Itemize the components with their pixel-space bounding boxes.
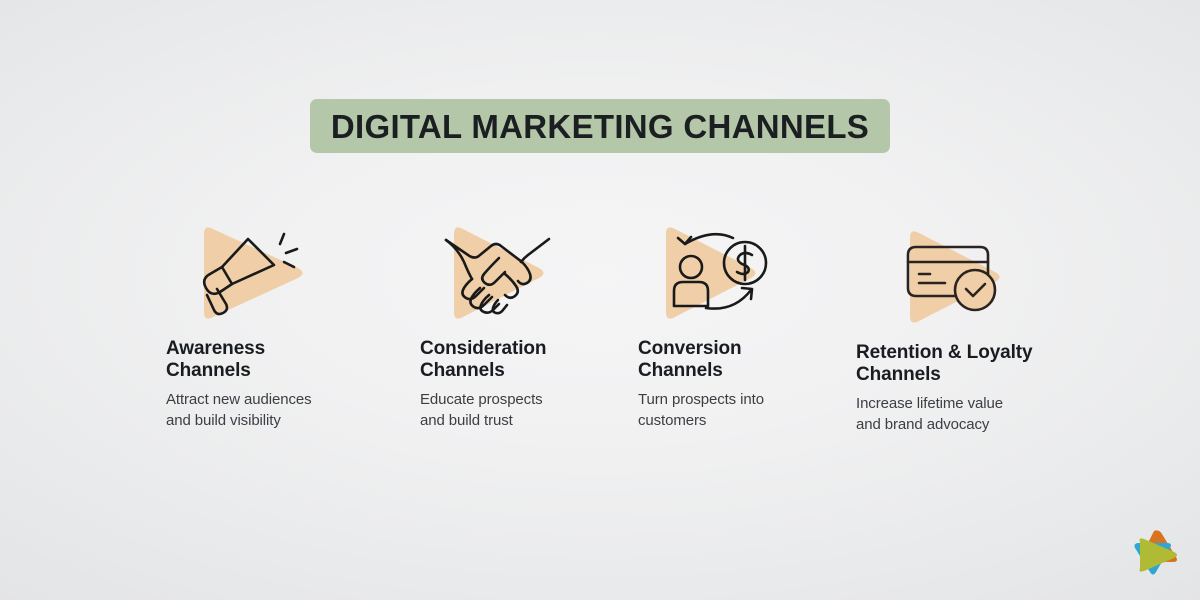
column-title: Awareness Channels	[166, 338, 381, 383]
column-title: Consideration Channels	[420, 338, 635, 383]
column-title-line1: Retention & Loyalty	[856, 342, 1033, 363]
column-text: Consideration Channels Educate prospects…	[420, 338, 635, 431]
column-desc-line2: and build trust	[420, 412, 513, 429]
column-title: Conversion Channels	[638, 338, 853, 383]
column-desc-line1: Increase lifetime value	[856, 395, 1003, 412]
column-desc-line1: Attract new audiences	[166, 391, 311, 408]
slide-canvas: DIGITAL MARKETING CHANNELS Awareness Cha…	[0, 0, 1200, 600]
column-title-line2: Channels	[166, 360, 251, 381]
column-title-line1: Consideration	[420, 338, 546, 359]
loyalty-card-check-icon	[898, 226, 1018, 326]
title-banner: DIGITAL MARKETING CHANNELS	[310, 99, 890, 153]
check-circle	[955, 270, 995, 310]
channel-column-conversion: Conversion Channels Turn prospects into …	[638, 222, 853, 431]
column-description: Educate prospects and build trust	[420, 389, 635, 432]
column-title-line1: Conversion	[638, 338, 742, 359]
column-text: Awareness Channels Attract new audiences…	[166, 338, 381, 431]
brand-logo	[1126, 528, 1182, 582]
column-desc-line2: customers	[638, 412, 706, 429]
column-desc-line2: and brand advocacy	[856, 416, 989, 433]
channel-column-consideration: Consideration Channels Educate prospects…	[420, 222, 635, 431]
column-desc-line1: Turn prospects into	[638, 391, 764, 408]
column-description: Increase lifetime value and brand advoca…	[856, 393, 1071, 436]
column-title-line2: Channels	[638, 360, 723, 381]
handshake-icon	[442, 222, 562, 322]
channel-column-retention: Retention & Loyalty Channels Increase li…	[856, 226, 1071, 435]
page-title: DIGITAL MARKETING CHANNELS	[331, 110, 869, 143]
megaphone-icon	[196, 222, 316, 322]
megaphone-spark-1	[280, 234, 284, 244]
column-text: Conversion Channels Turn prospects into …	[638, 338, 853, 431]
play-triangles-logo	[1126, 528, 1182, 582]
retention-icon-wrap	[898, 226, 1018, 326]
handshake-right-arm	[521, 239, 549, 262]
handshake-icon-wrap	[442, 222, 562, 322]
channel-column-awareness: Awareness Channels Attract new audiences…	[166, 222, 381, 431]
column-title: Retention & Loyalty Channels	[856, 342, 1071, 387]
megaphone-spark-2	[286, 249, 297, 253]
conversion-icon-wrap	[658, 222, 778, 322]
column-desc-line2: and build visibility	[166, 412, 281, 429]
column-desc-line1: Educate prospects	[420, 391, 543, 408]
column-title-line2: Channels	[856, 364, 941, 385]
column-text: Retention & Loyalty Channels Increase li…	[856, 342, 1071, 435]
column-title-line1: Awareness	[166, 338, 265, 359]
column-description: Attract new audiences and build visibili…	[166, 389, 381, 432]
person-dollar-cycle-icon	[658, 222, 778, 322]
column-title-line2: Channels	[420, 360, 505, 381]
column-description: Turn prospects into customers	[638, 389, 853, 432]
megaphone-icon-wrap	[196, 222, 316, 322]
